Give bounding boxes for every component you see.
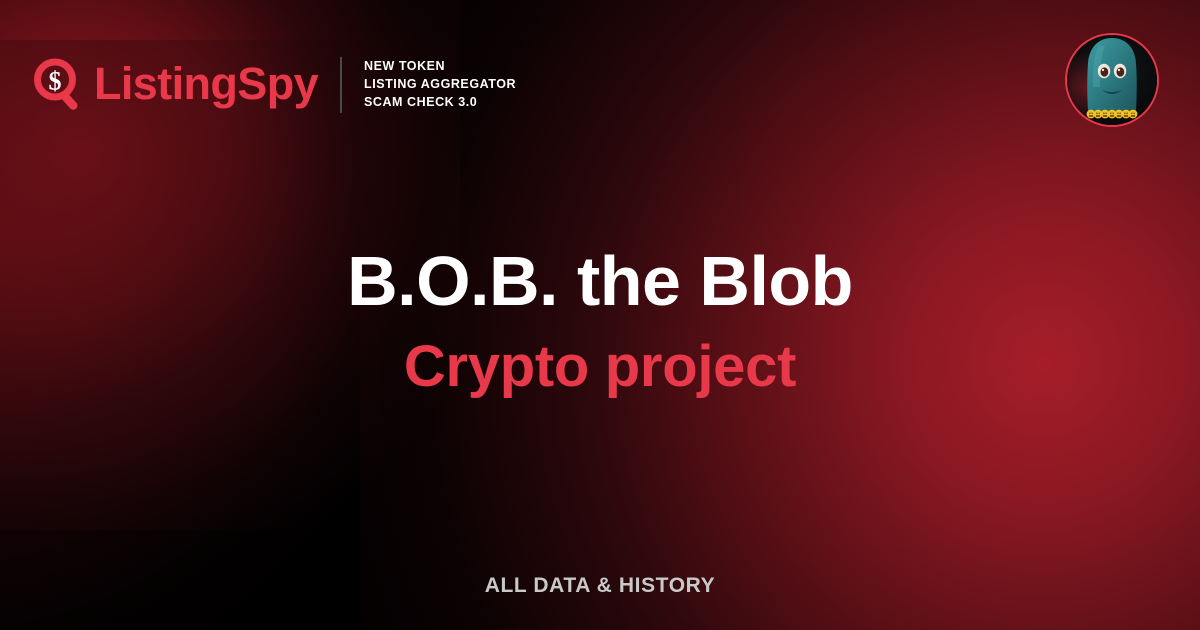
svg-text:$: $ [49, 66, 62, 95]
footer-text: ALL DATA & HISTORY [485, 574, 716, 597]
header: $ ListingSpy NEW TOKEN LISTING AGGREGATO… [0, 0, 1200, 170]
page-title: B.O.B. the Blob [0, 246, 1200, 316]
blob-character-image [1067, 35, 1157, 125]
tagline-line-1: NEW TOKEN [364, 58, 516, 76]
tagline-line-2: LISTING AGGREGATOR [364, 76, 516, 94]
logo-wordmark: ListingSpy [94, 61, 318, 110]
magnifier-dollar-icon: $ [32, 57, 88, 113]
footer: ALL DATA & HISTORY [0, 574, 1200, 598]
brand-divider [340, 57, 342, 113]
listingspy-social-card: $ ListingSpy NEW TOKEN LISTING AGGREGATO… [0, 0, 1200, 630]
tagline: NEW TOKEN LISTING AGGREGATOR SCAM CHECK … [364, 58, 516, 111]
tagline-line-3: SCAM CHECK 3.0 [364, 94, 516, 112]
page-subtitle: Crypto project [0, 316, 1200, 396]
hero-block: B.O.B. the Blob Crypto project [0, 246, 1200, 396]
brand-lockup[interactable]: $ ListingSpy NEW TOKEN LISTING AGGREGATO… [32, 57, 516, 113]
avatar[interactable] [1065, 33, 1159, 127]
